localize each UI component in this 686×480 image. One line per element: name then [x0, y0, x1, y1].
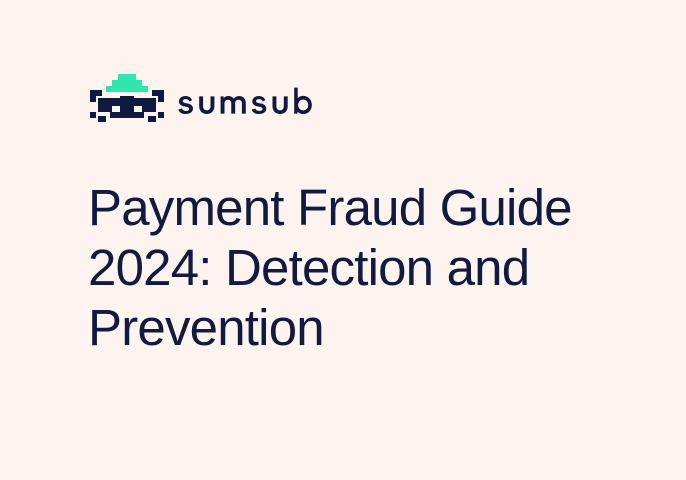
- page-title-line-1: Payment Fraud Guide: [88, 178, 628, 238]
- page-title-line-2: 2024: Detection and: [88, 238, 628, 298]
- title-slide: Payment Fraud Guide 2024: Detection and …: [0, 0, 686, 480]
- brand-lockup: [88, 72, 326, 124]
- page-title: Payment Fraud Guide 2024: Detection and …: [88, 178, 628, 358]
- sumsub-wordmark: [178, 87, 326, 124]
- page-title-line-3: Prevention: [88, 298, 628, 358]
- sumsub-invader-mascot-icon: [88, 72, 166, 124]
